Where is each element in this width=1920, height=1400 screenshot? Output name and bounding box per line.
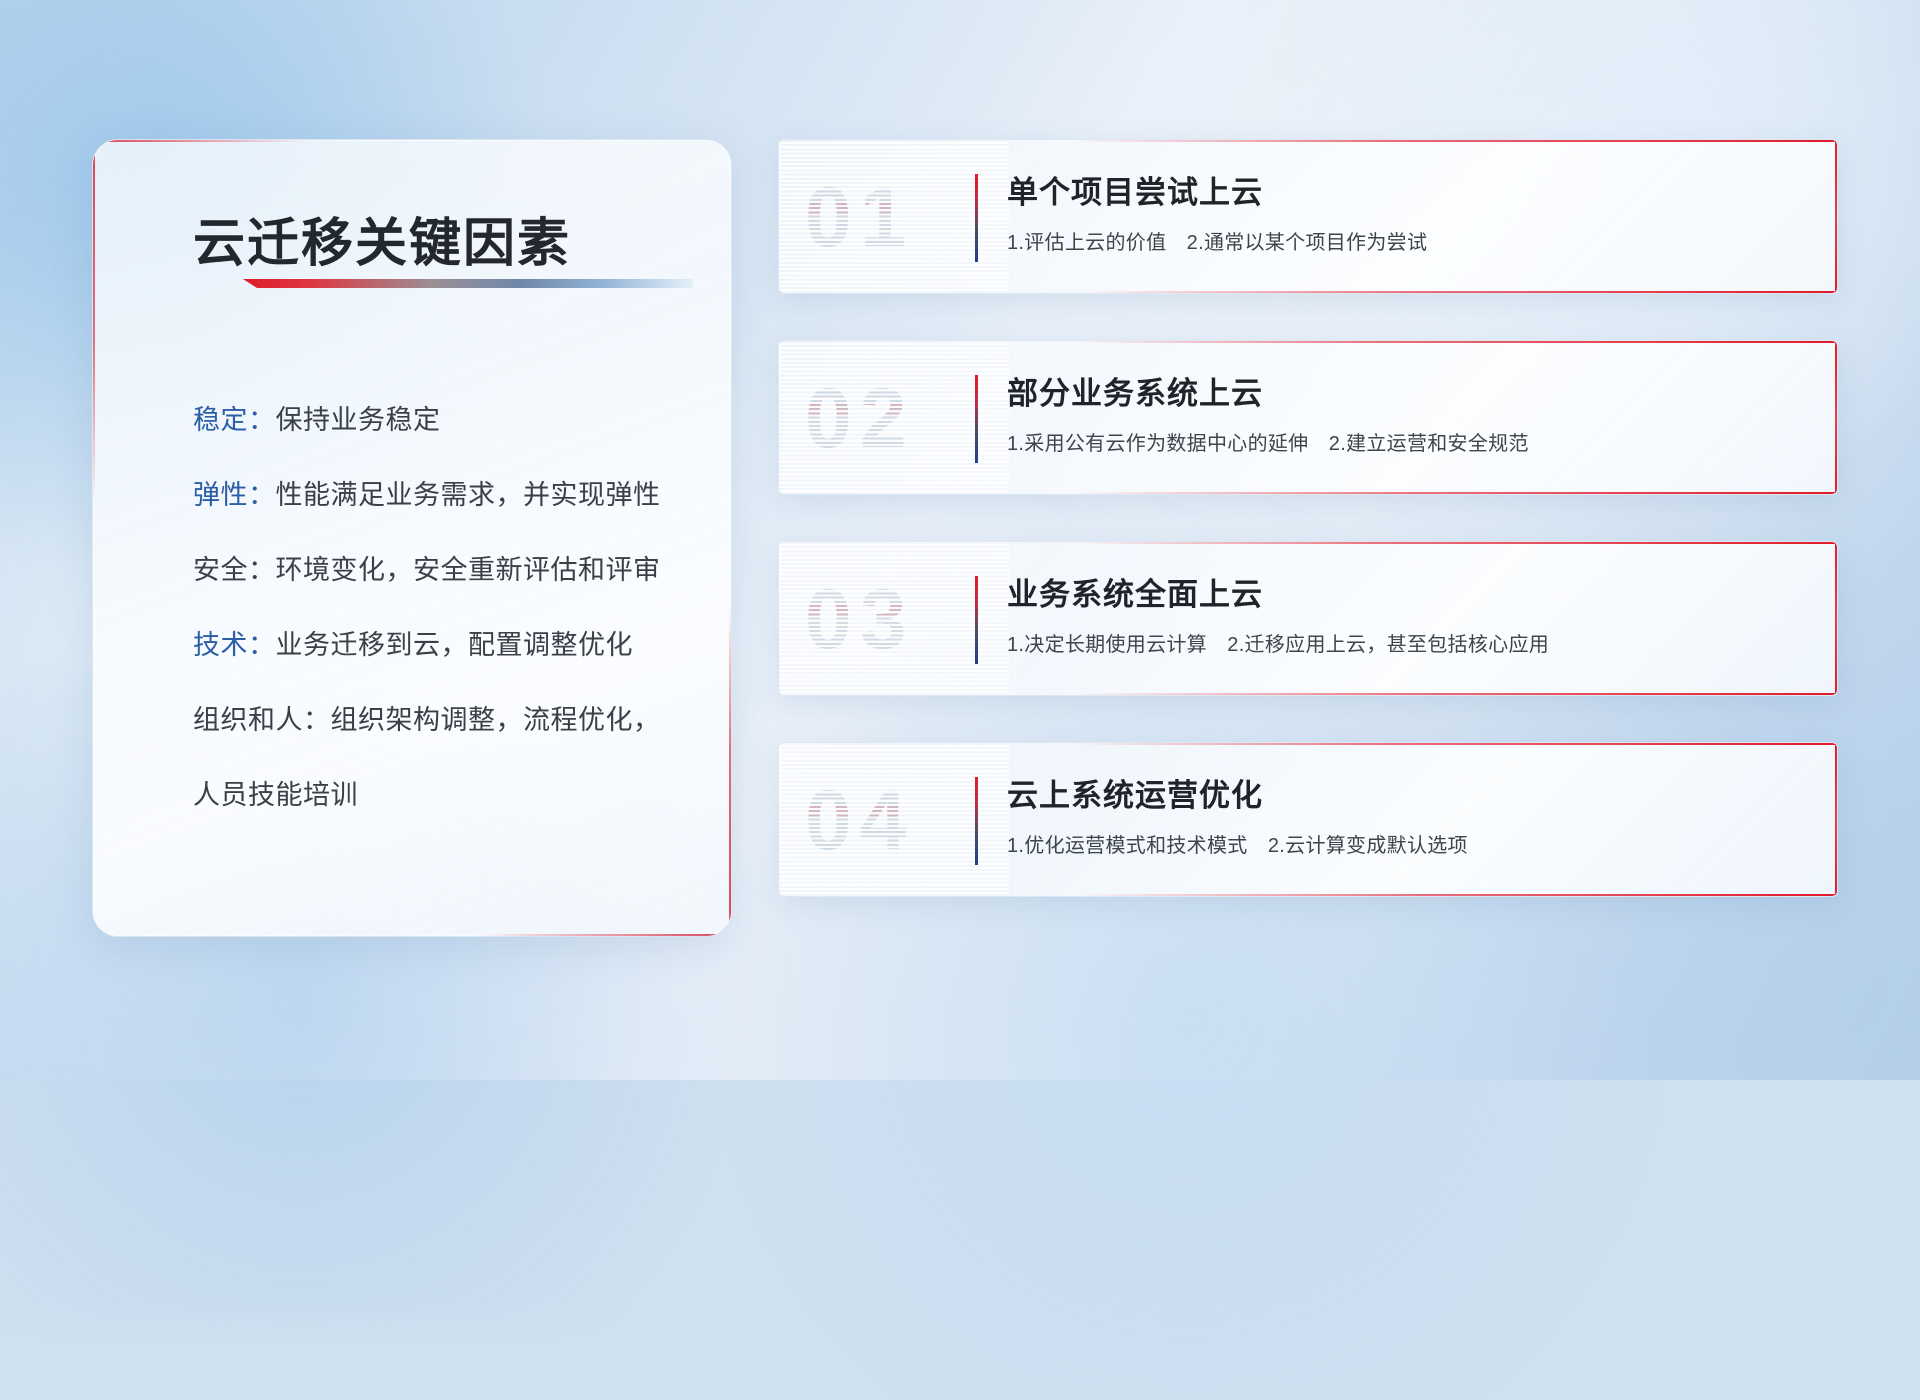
card-accent-right xyxy=(1835,542,1837,695)
key-factor-row: 安全：环境变化，安全重新评估和评审 xyxy=(193,533,691,608)
card-accent-bottom xyxy=(1075,693,1837,695)
stage-card[interactable]: 0101单个项目尝试上云1.评估上云的价值 2.通常以某个项目作为尝试 xyxy=(778,139,1838,294)
panel-accent-right xyxy=(729,602,731,936)
card-accent-bar xyxy=(975,174,978,262)
panel-accent-top-left xyxy=(93,140,310,142)
card-accent-bar xyxy=(975,375,978,463)
stage-card[interactable]: 0202部分业务系统上云1.采用公有云作为数据中心的延伸 2.建立运营和安全规范 xyxy=(778,340,1838,495)
card-accent-bar xyxy=(975,576,978,664)
stage-title: 部分业务系统上云 xyxy=(1007,368,1263,413)
key-factor-label: 弹性： xyxy=(193,480,276,510)
key-factor-text: 组织架构调整，流程优化， xyxy=(331,705,661,735)
key-factor-text: 保持业务稳定 xyxy=(276,405,441,435)
stage-card[interactable]: 0303业务系统全面上云1.决定长期使用云计算 2.迁移应用上云，甚至包括核心应… xyxy=(778,541,1838,696)
key-factor-row: 稳定：保持业务稳定 xyxy=(193,383,691,458)
stage-title: 云上系统运营优化 xyxy=(1007,770,1263,815)
stage-description: 1.决定长期使用云计算 2.迁移应用上云，甚至包括核心应用 xyxy=(1007,628,1549,657)
stage-number: 01 xyxy=(805,158,914,276)
card-accent-bottom xyxy=(1075,894,1837,896)
card-accent-bottom xyxy=(1075,291,1837,293)
key-factor-text: 人员技能培训 xyxy=(193,780,358,810)
key-factor-row: 人员技能培训 xyxy=(193,758,691,833)
key-factor-row: 弹性：性能满足业务需求，并实现弹性 xyxy=(193,458,691,533)
card-accent-right xyxy=(1835,140,1837,293)
key-factor-label: 安全： xyxy=(193,555,276,585)
key-factor-text: 业务迁移到云，配置调整优化 xyxy=(276,630,634,660)
card-accent-top xyxy=(1075,140,1837,142)
card-accent-right xyxy=(1835,341,1837,494)
stage-description: 1.评估上云的价值 2.通常以某个项目作为尝试 xyxy=(1007,226,1427,255)
stage-card[interactable]: 0404云上系统运营优化1.优化运营模式和技术模式 2.云计算变成默认选项 xyxy=(778,742,1838,897)
key-factor-row: 技术：业务迁移到云，配置调整优化 xyxy=(193,608,691,683)
cloud-migration-stages-list: 0101单个项目尝试上云1.评估上云的价值 2.通常以某个项目作为尝试0202部… xyxy=(778,139,1838,943)
key-factor-label: 组织和人： xyxy=(193,705,331,735)
card-accent-top xyxy=(1075,542,1837,544)
card-accent-bar xyxy=(975,777,978,865)
card-accent-bottom xyxy=(1075,492,1837,494)
key-factors-panel: 云迁移关键因素 稳定：保持业务稳定弹性：性能满足业务需求，并实现弹性安全：环境变… xyxy=(92,139,732,937)
panel-accent-bottom-right xyxy=(476,934,731,936)
key-factor-row: 组织和人：组织架构调整，流程优化， xyxy=(193,683,691,758)
stage-description: 1.采用公有云作为数据中心的延伸 2.建立运营和安全规范 xyxy=(1007,427,1529,456)
stage-number: 04 xyxy=(805,761,914,879)
key-factor-label: 稳定： xyxy=(193,405,276,435)
key-factor-label: 技术： xyxy=(193,630,276,660)
stage-description: 1.优化运营模式和技术模式 2.云计算变成默认选项 xyxy=(1007,829,1468,858)
stage-title: 单个项目尝试上云 xyxy=(1007,167,1263,212)
card-accent-top xyxy=(1075,341,1837,343)
stage-title: 业务系统全面上云 xyxy=(1007,569,1263,614)
card-accent-right xyxy=(1835,743,1837,896)
key-factor-text: 环境变化，安全重新评估和评审 xyxy=(276,555,661,585)
title-underline-gradient xyxy=(243,279,693,288)
stage-number: 03 xyxy=(805,560,914,678)
key-factors-list: 稳定：保持业务稳定弹性：性能满足业务需求，并实现弹性安全：环境变化，安全重新评估… xyxy=(193,383,691,833)
panel-accent-left xyxy=(93,140,95,506)
key-factor-text: 性能满足业务需求，并实现弹性 xyxy=(276,480,661,510)
card-accent-top xyxy=(1075,743,1837,745)
stage-number: 02 xyxy=(805,359,914,477)
page-title: 云迁移关键因素 xyxy=(193,201,571,276)
